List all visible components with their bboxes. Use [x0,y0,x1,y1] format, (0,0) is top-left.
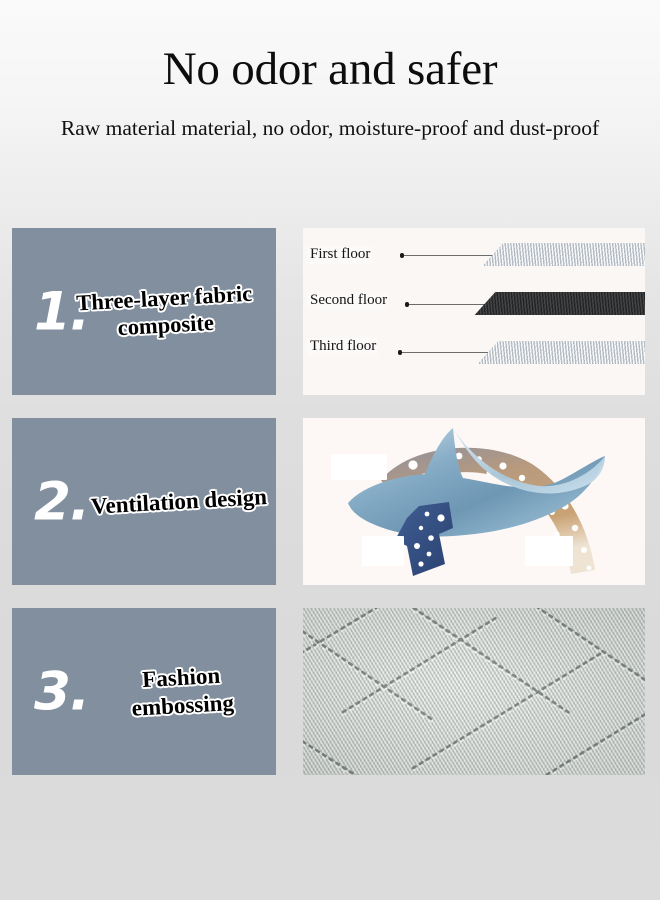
layer-sheet-second [475,292,645,315]
feature-label-card-1[interactable]: 1. Three-layer fabric composite [12,228,276,395]
feature-label-card-3[interactable]: 3. Fashion embossing [12,608,276,775]
page-title: No odor and safer [0,44,660,95]
feature-number-2: 2. [34,475,89,528]
emboss-diamond-pattern [303,608,645,775]
page-subtitle: Raw material material, no odor, moisture… [30,113,630,144]
feature-row-2: 2. Ventilation design [0,418,660,585]
feature-list: 1. Three-layer fabric composite First fl… [0,228,660,798]
feature-row-3: 3. Fashion embossing [0,608,660,775]
feature-number-3: 3. [34,665,89,718]
layer-label-second: Second floor [307,292,389,310]
feature-label-card-2[interactable]: 2. Ventilation design [12,418,276,585]
feature-label-3: Fashion embossing [95,659,270,725]
page-header: No odor and safer Raw material material,… [0,0,660,143]
layer-label-third: Third floor [307,338,378,356]
feature-row-1: 1. Three-layer fabric composite First fl… [0,228,660,395]
layer-row-third: Third floor [303,332,645,376]
layer-row-second: Second floor [303,286,645,330]
feature-label-1: Three-layer fabric composite [61,278,270,344]
layer-diagram-card: First floor Second floor Third floor [303,228,645,395]
ventilation-illustration-card [303,418,645,585]
ventilation-callout-1 [331,454,387,480]
layer-label-first: First floor [307,246,372,264]
airflow-illustration [303,418,645,585]
leader-line-first [404,255,504,256]
embossed-fabric-card [303,608,645,775]
layer-row-first: First floor [303,240,645,284]
ventilation-callout-2 [362,536,404,566]
feature-label-2: Ventilation design [89,483,268,521]
layer-sheet-first [483,243,645,266]
layer-sheet-third [478,341,645,364]
ventilation-callout-3 [525,536,573,566]
